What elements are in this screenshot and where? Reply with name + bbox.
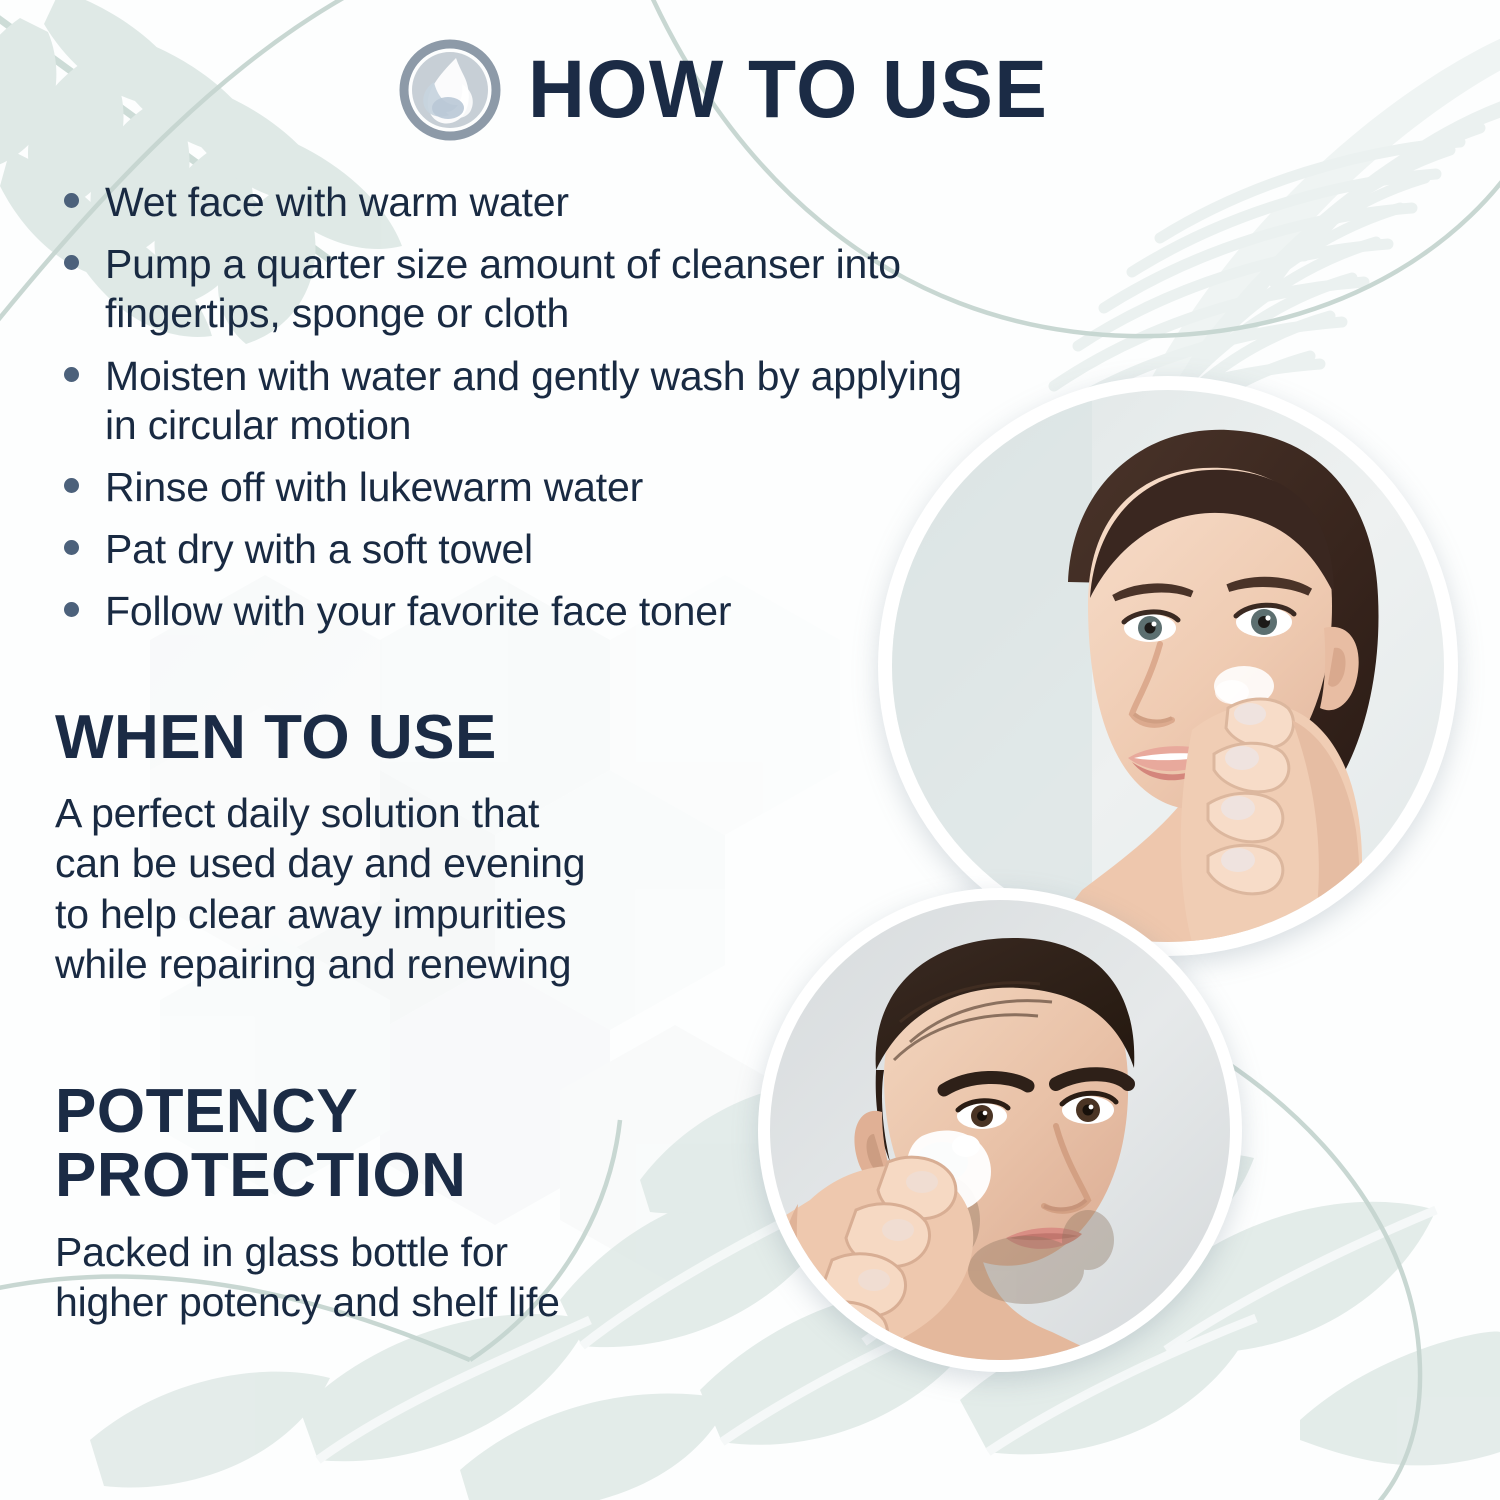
section-body: A perfect daily solution that can be use… <box>55 788 585 988</box>
list-item: Wet face with warm water <box>52 178 982 227</box>
bullet-dot-icon <box>64 255 79 270</box>
bullet-dot-icon <box>64 602 79 617</box>
potency-protection-section: POTENCY PROTECTION Packed in glass bottl… <box>55 1080 560 1327</box>
woman-portrait-illustration <box>892 390 1444 942</box>
man-applying-cleanser-photo <box>758 888 1242 1372</box>
bullet-dot-icon <box>64 540 79 555</box>
man-portrait-illustration <box>770 900 1230 1360</box>
bullet-dot-icon <box>64 478 79 493</box>
woman-applying-cleanser-photo <box>878 376 1458 956</box>
bullet-dot-icon <box>64 193 79 208</box>
how-to-use-steps-list: Wet face with warm water Pump a quarter … <box>52 178 982 650</box>
page-header: HOW TO USE <box>398 38 1070 142</box>
list-item: Pump a quarter size amount of cleanser i… <box>52 240 982 338</box>
photo-clip <box>892 390 1444 942</box>
list-item: Follow with your favorite face toner <box>52 587 982 636</box>
bullet-dot-icon <box>64 367 79 382</box>
when-to-use-section: WHEN TO USE A perfect daily solution tha… <box>55 706 585 989</box>
photo-clip <box>770 900 1230 1360</box>
list-item: Rinse off with lukewarm water <box>52 463 982 512</box>
step-text: Pat dry with a soft towel <box>105 525 533 574</box>
list-item: Moisten with water and gently wash by ap… <box>52 352 982 450</box>
section-heading: WHEN TO USE <box>55 706 585 770</box>
step-text: Follow with your favorite face toner <box>105 587 731 636</box>
step-text: Rinse off with lukewarm water <box>105 463 643 512</box>
list-item: Pat dry with a soft towel <box>52 525 982 574</box>
infographic-page: HOW TO USE Wet face with warm water Pump… <box>0 0 1500 1500</box>
step-text: Pump a quarter size amount of cleanser i… <box>105 240 982 338</box>
leaf-droplet-logo-icon <box>398 38 502 142</box>
brand-logo <box>398 38 502 142</box>
section-body: Packed in glass bottle for higher potenc… <box>55 1227 560 1327</box>
step-text: Moisten with water and gently wash by ap… <box>105 352 982 450</box>
page-title: HOW TO USE <box>528 49 1048 131</box>
step-text: Wet face with warm water <box>105 178 569 227</box>
section-heading: POTENCY PROTECTION <box>55 1080 560 1209</box>
